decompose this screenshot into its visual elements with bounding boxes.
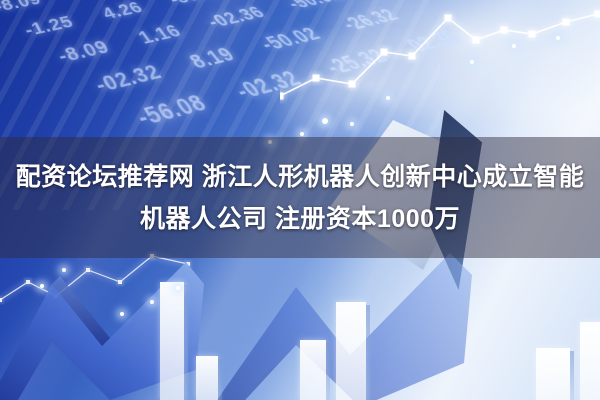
line-chart-node [473,37,480,44]
bar-chart-bar [336,302,366,400]
headline-line-1: 配资论坛推荐网 浙江人形机器人创新中心成立智能 [16,158,584,196]
glow-dot [322,118,328,124]
line-chart-graphic [280,0,600,160]
glow-dot [386,96,390,100]
line-chart-node [313,75,320,82]
glow-dot [556,36,560,40]
headline-line-2: 机器人公司 注册资本1000万 [140,200,460,238]
line-chart-node [280,93,284,100]
line-chart-node [381,49,388,56]
line-chart-node [529,31,536,38]
glow-dot [176,286,180,290]
line-chart-node [595,11,600,18]
bar-chart-bar [160,282,184,400]
line-chart-node [349,81,356,88]
glow-dot [470,60,474,64]
glow-dot [300,132,304,136]
bar-chart-bar [580,322,600,400]
line-chart-node [563,19,570,26]
bar-chart-bar [196,356,218,400]
glow-dot [120,312,124,316]
glow-dot [150,300,154,304]
bar-chart-bar [536,348,570,400]
banner-image: -48.02-09.35-21.0245.022.05-02.38-11.254… [0,0,600,400]
glow-dot [62,268,66,272]
glow-dot [350,122,354,126]
glow-dot [40,284,44,288]
line-chart-node [501,27,508,34]
headline-text: 配资论坛推荐网 浙江人形机器人创新中心成立智能 机器人公司 注册资本1000万 [0,137,600,258]
glow-dot [512,44,516,48]
line-chart-node [445,15,452,22]
bar-chart-bar [300,340,326,400]
line-chart-node [409,53,416,60]
